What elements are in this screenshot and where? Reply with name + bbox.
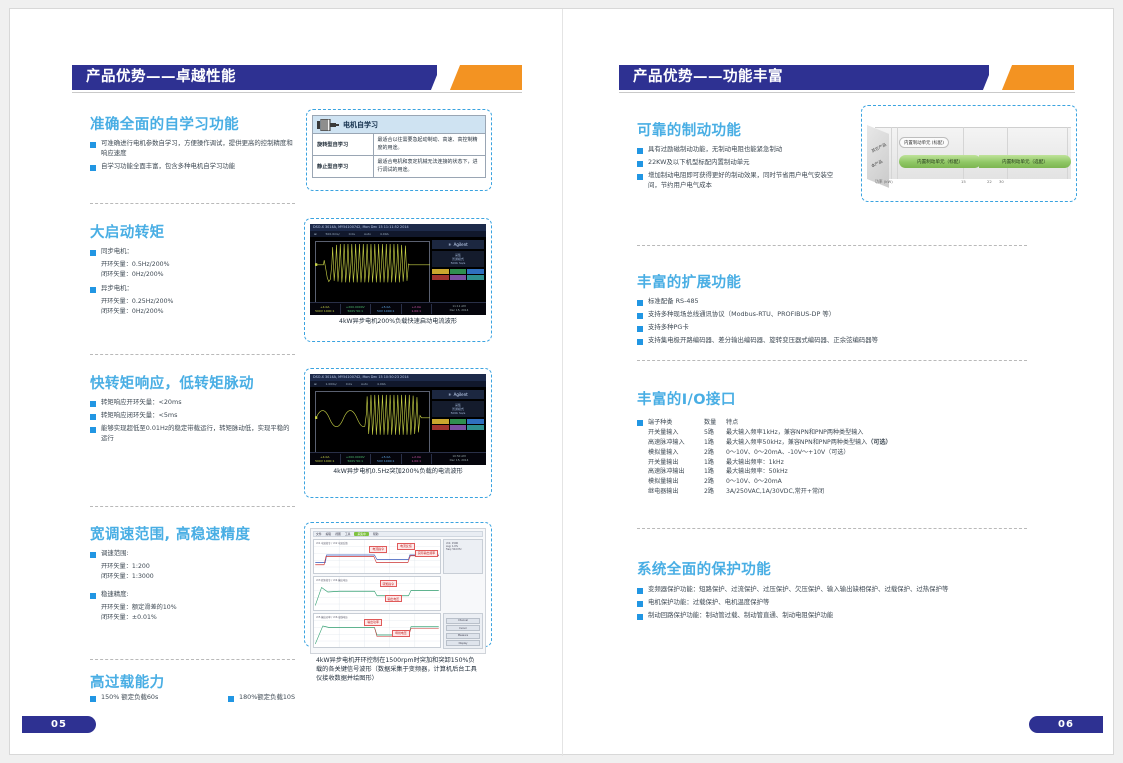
io-cell-type: 开关量输出 (648, 458, 704, 468)
banner-orange-cap (508, 65, 522, 90)
table-cell-type: 旋转型自学习 (313, 134, 374, 156)
axis-tick: 30 (999, 179, 1004, 184)
table-row: 开关量输出 1路 最大输出频率：1kHz (637, 458, 967, 468)
side-info: freq: 50.0 Hz (446, 548, 480, 551)
heading-protection: 系统全面的保护功能 (637, 558, 771, 579)
scope-measurement: +4.0A 500V 1000:1 (310, 304, 341, 314)
io-cell-qty: 2路 (704, 448, 726, 458)
left-banner-underline (72, 92, 522, 93)
divider (637, 245, 1027, 246)
list-item: 自学习功能全面丰富，包含多种电机自学习功能 (90, 162, 295, 172)
table-row: 静止型自学习 最适合电机和衷定机械无法连接的状态下，进行调试的用途。 (313, 156, 486, 178)
figure-caption: 4kW异步电机开环控制在1500rpm时突加和突卸150%负载的各关键信号波形（… (310, 654, 486, 685)
divider (637, 360, 1027, 361)
axis-tick: 15 (961, 179, 966, 184)
io-cell-qty: 1路 (704, 467, 726, 477)
bullets-overload-b: 180%额定负载10S (228, 693, 358, 706)
bullets-overload-a: 150% 额定负载60s (90, 693, 220, 706)
list-item: 稳速精度: (90, 590, 295, 600)
scope-menu-item: Auto (361, 382, 368, 386)
scope-softkey[interactable] (467, 419, 484, 424)
scope-timestamp: 11:11 AM Dec 15, 2014 (432, 305, 486, 313)
list-item: 转矩响应闭环矢量：<5ms (90, 411, 295, 421)
right-banner: 产品优势——功能丰富 (619, 65, 1075, 90)
scope-measurement: +200.0000V 500V 50:1 (341, 454, 372, 464)
brake-axis: 功率 (kW) 15 22 30 90 (875, 179, 1071, 188)
scope-softkeys (432, 419, 484, 430)
io-cell-type: 开关量输入 (648, 428, 704, 438)
list-item: 具有过励磁制动功能，无制动电阻也能紧急制动 (637, 145, 837, 155)
toolbar-item[interactable]: 帮助 (373, 532, 379, 536)
bullet-square-icon (228, 696, 234, 702)
scope-title-bar: DSO-X 3014A, MY54100742, Mon Dec 15 10:5… (310, 374, 486, 381)
list-item: 标准配备 RS-485 (637, 297, 927, 307)
scope-waveform (315, 391, 430, 441)
scope-menu-item: 4.00A (380, 232, 389, 236)
heading-brake: 可靠的制动功能 (637, 119, 741, 140)
scope-display: ✳ Agilent 采集 普通模式 500k Sa/s (310, 237, 486, 315)
annotation-tag: 输出电压 (385, 595, 403, 602)
list-item: 支持多种现场总线通讯协议（Modbus-RTU、PROFIBUS-DP 等） (637, 310, 927, 320)
io-cell-type: 继电器输出 (648, 487, 704, 497)
figure-brake-diagram: 其它产品 本产品 内置制动单元 (标配) 内置制动单元（标配） 内置制动单元（选… (861, 105, 1077, 202)
scope-panel-line: 500k Sa/s (432, 411, 484, 415)
bullets-protection: 变频器保护功能：短路保护、过流保护、过压保护、欠压保护、输入输出缺相保护、过载保… (637, 585, 1037, 624)
figure-analysis-chart: 文件 编辑 视图 工具 采集中 帮助 (304, 522, 492, 647)
io-header-feature: 特点 (726, 417, 967, 426)
bullets-torque-response: 转矩响应开环矢量：<20ms 转矩响应闭环矢量：<5ms 能够实现超低至0.01… (90, 398, 295, 447)
scope-measurement: +4.0A 500V 1000:1 (310, 454, 341, 464)
scope-menu-item: 0.0s (349, 232, 355, 236)
bullet-square-icon (637, 326, 643, 332)
list-item: 变频器保护功能：短路保护、过流保护、过压保护、欠压保护、输入输出缺相保护、过载保… (637, 585, 1037, 595)
bullets-start-torque: 同步电机： 开环矢量：0.5Hz/200% 闭环矢量：0Hz/200% 异步电机… (90, 247, 295, 317)
bullet-text: 180%额定负载10S (239, 693, 295, 703)
io-cell-feature: 最大输入频率50kHz，兼容NPN和PNP两种类型输入（可选） (726, 438, 967, 448)
io-cell-type: 模拟量输出 (648, 477, 704, 487)
figure-motor-self-learning: 电机自学习 旋转型自学习 最适合以往需要急起动制动、高速、高控制精度的用途。 静… (306, 109, 492, 191)
table-row: 旋转型自学习 最适合以往需要急起动制动、高速、高控制精度的用途。 (313, 134, 486, 156)
scope-softkey[interactable] (432, 275, 449, 280)
bullet-text: 能够实现超低至0.01Hz的稳定带载运行，转矩脉动低，实现平稳的运行 (101, 424, 295, 444)
list-item: 支持多种PG卡 (637, 323, 927, 333)
scope-timestamp: 10:50 AM Dec 15, 2014 (432, 455, 486, 463)
list-item: 调速范围: (90, 549, 295, 559)
analysis-plot-1: ch1 电流指令 / ch2 电流反馈 电流指令 电流反馈 实际输出频率 (313, 539, 441, 574)
brake-pill-standard: 内置制动单元（标配） (899, 155, 981, 168)
grid-line (891, 127, 892, 179)
table-row: 高速脉冲输入 1路 最大输入频率50kHz，兼容NPN和PNP两种类型输入（可选… (637, 438, 967, 448)
plot-legend: ch5 输出功率 / ch6 母线电压 (316, 615, 348, 619)
analysis-row: ch1 电流指令 / ch2 电流反馈 电流指令 电流反馈 实际输出频率 ch1… (313, 539, 483, 574)
io-cell-qty: 1路 (704, 458, 726, 468)
scope-panel-line: 500k Sa/s (432, 261, 484, 265)
bullet-square-icon (90, 401, 96, 407)
list-item: 增加制动电阻即可获得更好的制动效果，同时节省用户电气安装空间，节约用户电气成本 (637, 171, 837, 191)
io-header-type: 端子种类 (648, 417, 704, 426)
toolbar-item[interactable]: 视图 (335, 532, 341, 536)
right-banner-title: 产品优势——功能丰富 (633, 65, 783, 90)
page-right: 产品优势——功能丰富 可靠的制动功能 具有过励磁制动功能，无制动电阻也能紧急制动… (563, 9, 1115, 756)
motor-self-learning-table: 电机自学习 旋转型自学习 最适合以往需要急起动制动、高速、高控制精度的用途。 静… (312, 115, 486, 178)
io-cell-qty: 5路 (704, 428, 726, 438)
table-title: 电机自学习 (343, 120, 378, 130)
sub-line: 闭环矢量：1:3000 (90, 572, 295, 582)
bullet-square-icon (637, 614, 643, 620)
bullet-text: 转矩响应开环矢量：<20ms (101, 398, 182, 408)
plot-legend: ch1 电流指令 / ch2 电流反馈 (316, 541, 348, 545)
figure-caption: 4kW异步电机200%负载快速启动电流波形 (310, 315, 486, 328)
table-cell-desc: 最适合以往需要急起动制动、高速、高控制精度的用途。 (373, 134, 485, 156)
bullet-text: 具有过励磁制动功能，无制动电阻也能紧急制动 (648, 145, 782, 155)
io-cell-qty: 2路 (704, 487, 726, 497)
io-cell-feature: 最大输出频率：50kHz (726, 467, 967, 477)
heading-speed-range: 宽调速范围, 高稳速精度 (90, 523, 250, 544)
page-left: 产品优势——卓越性能 准确全面的自学习功能 可准确进行电机参数自学习，方便操作调… (10, 9, 562, 756)
toolbar-item[interactable]: 工具 (345, 532, 351, 536)
bullet-square-icon (637, 601, 643, 607)
scope-softkey[interactable] (467, 425, 484, 430)
cursor-button[interactable]: Cursor (446, 625, 480, 631)
scope-menu-item: Auto (364, 232, 371, 236)
io-cell-feature: 0～10V、0～20mA (726, 477, 967, 487)
list-item: 可准确进行电机参数自学习，方便操作调试，提供更高的控制精度和响应速度 (90, 139, 295, 159)
divider (90, 354, 295, 355)
io-cell-type: 模拟量输入 (648, 448, 704, 458)
scope-softkey[interactable] (450, 269, 467, 274)
toolbar-item[interactable]: 文件 (316, 532, 322, 536)
table-cell-desc: 最适合电机和衷定机械无法连接的状态下，进行调试的用途。 (373, 156, 485, 178)
figure-scope-start-current: DSO-X 3014A, MY54100742, Mon Dec 15 11:1… (304, 218, 492, 342)
bullet-square-icon (637, 588, 643, 594)
bullets-brake: 具有过励磁制动功能，无制动电阻也能紧急制动 22KW及以下机型标配内置制动单元 … (637, 145, 837, 194)
toolbar-item[interactable]: 编辑 (326, 532, 332, 536)
divider (90, 659, 295, 660)
bullet-square-icon (90, 552, 96, 558)
bullet-text: 变频器保护功能：短路保护、过流保护、过压保护、欠压保护、输入输出缺相保护、过载保… (648, 585, 948, 595)
table-row: 电机自学习 (313, 116, 486, 134)
scope-menu-item: 500.0ms/ (326, 232, 340, 236)
page-number-right: 06 (1029, 716, 1103, 733)
scope-softkey[interactable] (432, 425, 449, 430)
scope-menu-item: ⊞ (314, 232, 317, 236)
bullet-text: 150% 额定负载60s (101, 693, 158, 703)
scope-softkey[interactable] (450, 419, 467, 424)
scope-menu-item: 0.0s (346, 382, 352, 386)
divider (90, 203, 295, 204)
io-cell-feature: 3A/250VAC,1A/30VDC,常开+常闭 (726, 487, 967, 497)
io-table-header: 端子种类 数量 特点 (637, 417, 967, 426)
io-cell-qty: 2路 (704, 477, 726, 487)
scope-acquire-panel: 采集 普通模式 500k Sa/s (432, 401, 484, 417)
table-cell-type: 静止型自学习 (313, 156, 374, 178)
scope-softkey[interactable] (450, 425, 467, 430)
bullet-text: 支持集电极开路编码器、差分输出编码器、旋转变压器式编码器、正余弦编码器等 (648, 336, 878, 346)
io-cell-type: 高速脉冲输出 (648, 467, 704, 477)
bullet-square-icon (637, 174, 643, 180)
bullet-text: 支持多种现场总线通讯协议（Modbus-RTU、PROFIBUS-DP 等） (648, 310, 835, 320)
bullet-square-icon (637, 161, 643, 167)
bullets-expansion: 标准配备 RS-485 支持多种现场总线通讯协议（Modbus-RTU、PROF… (637, 297, 927, 349)
table-header-cell: 电机自学习 (313, 116, 486, 134)
bullet-square-icon (637, 300, 643, 306)
sub-line: 闭环矢量：0Hz/200% (90, 270, 295, 280)
bullet-square-icon (637, 339, 643, 345)
grid-line (1007, 127, 1008, 179)
bullet-text: 制动回路保护功能：制动管过载、制动管直通、制动电阻保护功能 (648, 611, 833, 621)
scope-measurement-bar: +4.0A 500V 1000:1 +200.0000V 500V 50:1 +… (310, 452, 486, 465)
scope-side-panel: ✳ Agilent 采集 普通模式 500k Sa/s (432, 240, 484, 301)
bullet-text: 稳速精度: (101, 590, 129, 600)
scope-softkeys (432, 269, 484, 280)
divider (90, 506, 295, 507)
io-cell-feature: 最大输出频率：1kHz (726, 458, 967, 468)
right-banner-underline (619, 92, 1075, 93)
list-item: 同步电机： (90, 247, 295, 257)
list-item: 22KW及以下机型标配内置制动单元 (637, 158, 837, 168)
sub-line: 开环矢量：0.25Hz/200% (90, 297, 295, 307)
table-row: 高速脉冲输出 1路 最大输出频率：50kHz (637, 467, 967, 477)
grid-line (963, 127, 964, 179)
heading-self-learning: 准确全面的自学习功能 (90, 113, 239, 134)
analysis-row: ch5 输出功率 / ch6 母线电压 输出功率 母线电压 Channel Cu… (313, 613, 483, 649)
bullet-square-icon (90, 414, 96, 420)
measure-button[interactable]: Measure (446, 633, 480, 639)
scope-brand: ✳ Agilent (432, 240, 484, 249)
list-item: 转矩响应开环矢量：<20ms (90, 398, 295, 408)
banner-orange-cap (1060, 65, 1074, 90)
oscilloscope-screenshot: DSO-X 3014A, MY54100742, Mon Dec 15 11:1… (310, 224, 486, 315)
analysis-toolbar: 文件 编辑 视图 工具 采集中 帮助 (313, 531, 483, 537)
annotation-tag: 输出功率 (364, 619, 382, 626)
status-badge: 采集中 (354, 532, 368, 536)
brake-plane (875, 127, 1071, 179)
analysis-plot-3: ch5 输出功率 / ch6 母线电压 输出功率 母线电压 (313, 613, 441, 648)
table-row: 模拟量输出 2路 0～10V、0～20mA (637, 477, 967, 487)
io-cell-feature: 最大输入频率1kHz，兼容NPN和PNP两种类型输入 (726, 428, 967, 438)
axis-tick: 22 (987, 179, 992, 184)
bullet-square-icon (637, 420, 643, 426)
bullet-square-icon (637, 313, 643, 319)
bullet-square-icon (90, 250, 96, 256)
channel-button[interactable]: Channel (446, 618, 480, 624)
divider (637, 528, 1027, 529)
bullet-text: 异步电机： (101, 284, 133, 294)
scope-title-bar: DSO-X 3014A, MY54100742, Mon Dec 15 11:1… (310, 224, 486, 231)
scope-measurement: +5.0A 50V 1000:1 (371, 454, 402, 464)
axis-label: 功率 (kW) (875, 179, 893, 185)
annotation-tag: 电流指令 (369, 546, 387, 553)
heading-start-torque: 大启动转矩 (90, 221, 165, 242)
list-item: 制动回路保护功能：制动管过载、制动管直通、制动电阻保护功能 (637, 611, 1037, 621)
bullet-text: 转矩响应闭环矢量：<5ms (101, 411, 178, 421)
list-item: 180%额定负载10S (228, 693, 358, 703)
heading-torque-response: 快转矩响应，低转矩脉动 (90, 372, 254, 393)
annotation-tag: 母线电压 (392, 630, 410, 637)
figure-caption: 4kW异步电机0.5Hz突加200%负载的电流波形 (310, 465, 486, 478)
bullet-square-icon (90, 593, 96, 599)
scope-measurement: +2.0A 1.00:1 (402, 454, 433, 464)
bullet-square-icon (90, 427, 96, 433)
annotation-tag: 电流反馈 (397, 543, 415, 550)
scope-display: ✳ Agilent 采集 普通模式 500k Sa/s (310, 387, 486, 465)
scope-measurement-bar: +4.0A 500V 1000:1 +200.0000V 500V 50:1 +… (310, 302, 486, 315)
figure-scope-load-step: DSO-X 3014A, MY54100742, Mon Dec 15 10:5… (304, 368, 492, 498)
scope-softkey[interactable] (467, 275, 484, 280)
left-banner-title: 产品优势——卓越性能 (86, 65, 236, 90)
scope-measurement: +2.0A 1.00:1 (402, 304, 433, 314)
bullet-text: 增加制动电阻即可获得更好的制动效果，同时节省用户电气安装空间，节约用户电气成本 (648, 171, 837, 191)
scope-softkey[interactable] (432, 419, 449, 424)
bullet-text: 可准确进行电机参数自学习，方便操作调试，提供更高的控制精度和响应速度 (101, 139, 295, 159)
list-item: 异步电机： (90, 284, 295, 294)
bullet-text: 调速范围: (101, 549, 129, 559)
scope-brand: ✳ Agilent (432, 390, 484, 399)
list-item: 电机保护功能：过载保护、电机温度保护等 (637, 598, 1037, 608)
analysis-side-panel-1: ch1: 1500 avg: 1.0% freq: 50.0 Hz (443, 539, 483, 574)
sub-line: 开环矢量：额定滑差的10% (90, 603, 295, 613)
table-row: 继电器输出 2路 3A/250VAC,1A/30VDC,常开+常闭 (637, 487, 967, 497)
scope-softkey[interactable] (450, 275, 467, 280)
scope-softkey[interactable] (467, 269, 484, 274)
io-header-qty: 数量 (704, 417, 726, 426)
brochure-spread: 产品优势——卓越性能 准确全面的自学习功能 可准确进行电机参数自学习，方便操作调… (9, 8, 1114, 755)
scope-side-panel: ✳ Agilent 采集 普通模式 500k Sa/s (432, 390, 484, 451)
io-feature-text: 最大输入频率1kHz，兼容NPN和PNP两种类型输入 (726, 429, 863, 436)
annotation-tag: 转矩指令 (380, 580, 398, 587)
scope-brand-label: Agilent (454, 392, 468, 397)
bullet-text: 自学习功能全面丰富，包含多种电机自学习功能 (101, 162, 235, 172)
list-item: 支持集电极开路编码器、差分输出编码器、旋转变压器式编码器、正余弦编码器等 (637, 336, 927, 346)
heading-expansion: 丰富的扩展功能 (637, 271, 741, 292)
scope-menu-item: ⊞ (314, 382, 317, 386)
scope-measurement: +200.0000V 500V 50:1 (341, 304, 372, 314)
scope-acquire-panel: 采集 普通模式 500k Sa/s (432, 251, 484, 267)
io-spec-table: 端子种类 数量 特点 开关量输入 5路 最大输入频率1kHz，兼容NPN和PNP… (637, 417, 967, 497)
plot-legend: ch3 转矩指令 / ch4 输出电压 (316, 578, 348, 582)
annotation-tag: 实际输出频率 (415, 550, 438, 557)
display-button[interactable]: Display (446, 640, 480, 646)
agilent-logo-icon: ✳ (448, 242, 451, 247)
grid-line (1067, 127, 1068, 179)
scope-softkey[interactable] (432, 269, 449, 274)
agilent-logo-icon: ✳ (448, 392, 451, 397)
list-item: 能够实现超低至0.01Hz的稳定带载运行，转矩脉动低，实现平稳的运行 (90, 424, 295, 444)
scope-menu-item: 1.000s/ (326, 382, 337, 386)
analysis-row: ch3 转矩指令 / ch4 输出电压 转矩指令 输出电压 (313, 576, 483, 611)
page-number-left: 05 (22, 716, 96, 733)
bullet-text: 电机保护功能：过载保护、电机温度保护等 (648, 598, 769, 608)
bullet-square-icon (90, 142, 96, 148)
list-item: 150% 额定负载60s (90, 693, 220, 703)
analysis-side-panel-2: Channel Cursor Measure Display (443, 613, 483, 649)
brake-unit-diagram: 其它产品 本产品 内置制动单元 (标配) 内置制动单元（标配） 内置制动单元（选… (867, 111, 1071, 195)
analysis-software-window: 文件 编辑 视图 工具 采集中 帮助 (310, 528, 486, 654)
bullet-text: 22KW及以下机型标配内置制动单元 (648, 158, 750, 168)
bullet-square-icon (637, 148, 643, 154)
bullets-self-learning: 可准确进行电机参数自学习，方便操作调试，提供更高的控制精度和响应速度 自学习功能… (90, 139, 295, 175)
grid-line (897, 127, 898, 179)
io-cell-qty: 1路 (704, 438, 726, 448)
table-row: 模拟量输入 2路 0～10V、0～20mA、-10V～+10V（可选） (637, 448, 967, 458)
scope-menu-item: 4.00A (377, 382, 386, 386)
bullet-square-icon (90, 165, 96, 171)
scope-waveform (315, 241, 430, 291)
io-cell-type: 高速脉冲输入 (648, 438, 704, 448)
oscilloscope-screenshot: DSO-X 3014A, MY54100742, Mon Dec 15 10:5… (310, 374, 486, 465)
bullet-square-icon (90, 287, 96, 293)
bullet-text: 支持多种PG卡 (648, 323, 689, 333)
sub-line: 闭环矢量：0Hz/200% (90, 307, 295, 317)
io-feature-text: 最大输入频率50kHz，兼容NPN和PNP两种类型输入 (726, 439, 867, 446)
table-row: 开关量输入 5路 最大输入频率1kHz，兼容NPN和PNP两种类型输入 (637, 428, 967, 438)
bullet-text: 标准配备 RS-485 (648, 297, 699, 307)
analysis-plot-2: ch3 转矩指令 / ch4 输出电压 转矩指令 输出电压 (313, 576, 441, 611)
sub-line: 闭环矢量：±0.01% (90, 613, 295, 623)
io-cell-feature: 0～10V、0～20mA、-10V～+10V（可选） (726, 448, 967, 458)
brake-standard-bubble: 内置制动单元 (标配) (899, 137, 949, 148)
sub-line: 开环矢量：0.5Hz/200% (90, 260, 295, 270)
scope-brand-label: Agilent (454, 242, 468, 247)
heading-overload: 高过载能力 (90, 671, 165, 692)
motor-icon (317, 119, 339, 131)
left-banner: 产品优势——卓越性能 (72, 65, 522, 90)
heading-io: 丰富的I/O接口 (637, 388, 736, 409)
brake-pill-optional: 内置制动单元（选配） (979, 155, 1071, 168)
bullets-speed-range: 调速范围: 开环矢量：1:200 闭环矢量：1:3000 稳速精度: 开环矢量：… (90, 549, 295, 623)
scope-measurement: +5.0A 50V 1000:1 (371, 304, 402, 314)
io-feature-bold: （可选） (867, 439, 891, 446)
bullet-text: 同步电机： (101, 247, 133, 257)
bullet-square-icon (90, 696, 96, 702)
sub-line: 开环矢量：1:200 (90, 562, 295, 572)
